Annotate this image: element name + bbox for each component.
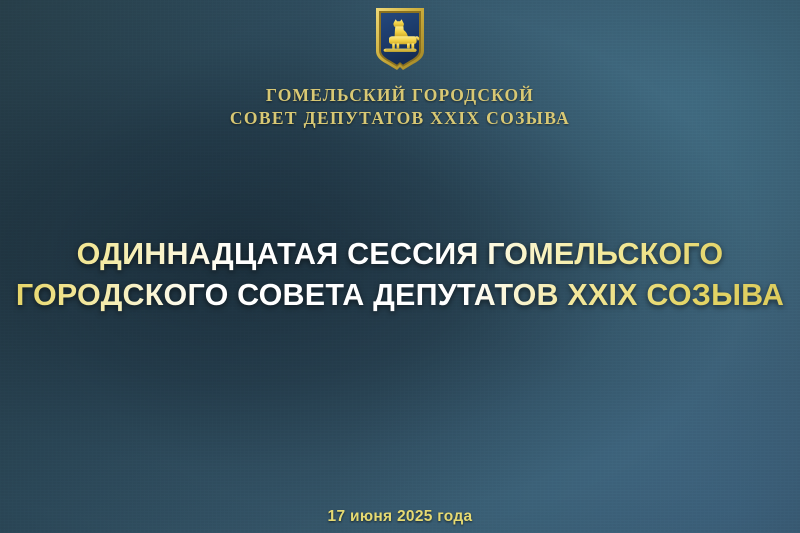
session-date: 17 июня 2025 года <box>0 508 800 526</box>
presentation-title-slide: ГОМЕЛЬСКИЙ ГОРОДСКОЙ СОВЕТ ДЕПУТАТОВ XXI… <box>0 0 800 533</box>
council-header-line-1: ГОМЕЛЬСКИЙ ГОРОДСКОЙ <box>0 84 800 107</box>
slide-content: ГОМЕЛЬСКИЙ ГОРОДСКОЙ СОВЕТ ДЕПУТАТОВ XXI… <box>0 0 800 533</box>
council-header-line-2: СОВЕТ ДЕПУТАТОВ XXIX СОЗЫВА <box>0 107 800 130</box>
page-title: ОДИННАДЦАТАЯ СЕССИЯ ГОМЕЛЬСКОГО ГОРОДСКО… <box>0 234 800 316</box>
coat-of-arms-icon <box>373 5 427 77</box>
page-title-line-2: ГОРОДСКОГО СОВЕТА ДЕПУТАТОВ XXIX СОЗЫВА <box>0 275 800 316</box>
page-title-line-1: ОДИННАДЦАТАЯ СЕССИЯ ГОМЕЛЬСКОГО <box>0 234 800 275</box>
council-header: ГОМЕЛЬСКИЙ ГОРОДСКОЙ СОВЕТ ДЕПУТАТОВ XXI… <box>0 84 800 130</box>
